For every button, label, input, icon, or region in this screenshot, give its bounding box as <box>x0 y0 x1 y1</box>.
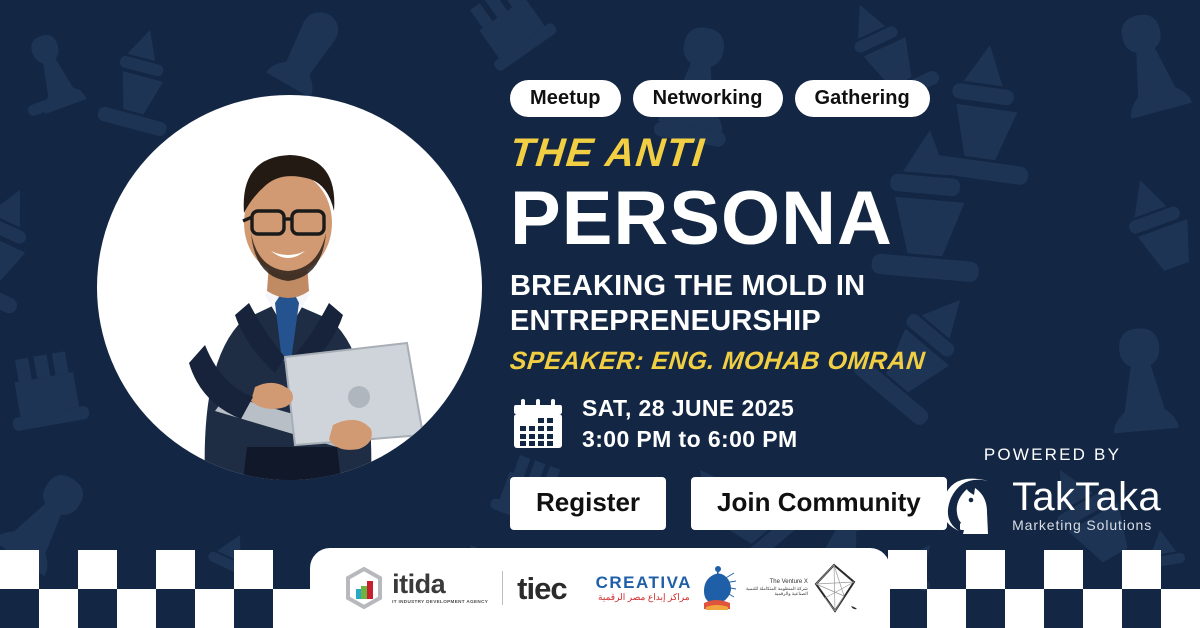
taktaka-logo: TakTaka Marketing Solutions <box>925 474 1180 536</box>
itida-tagline: IT INDUSTRY DEVELOPMENT AGENCY <box>392 600 488 605</box>
register-button[interactable]: Register <box>510 477 666 530</box>
badge-row: Meetup Networking Gathering <box>510 80 1030 117</box>
subtitle-line-2: ENTREPRENEURSHIP <box>510 304 1030 339</box>
venture-arabic-line2: الصناعية والرقمية <box>746 591 808 596</box>
taktaka-brand-name: TakTaka <box>1012 478 1161 516</box>
person-with-laptop-photo <box>97 95 482 480</box>
sponsor-tiec[interactable]: tiec <box>517 573 566 604</box>
badge-meetup[interactable]: Meetup <box>510 80 621 117</box>
venture-name: The Venture X <box>746 579 808 586</box>
powered-by-label: POWERED BY <box>925 445 1180 465</box>
creativa-text: CREATIVA مراكز إبداع مصر الرقمية <box>596 574 692 602</box>
calendar-icon <box>510 396 566 452</box>
tiec-name: tiec <box>517 573 566 604</box>
itida-text: itida IT INDUSTRY DEVELOPMENT AGENCY <box>392 571 488 605</box>
sponsor-creativa[interactable]: CREATIVA مراكز إبداع مصر الرقمية <box>596 565 736 611</box>
checkerboard-right <box>888 550 1200 628</box>
event-poster: Meetup Networking Gathering THE ANTI PER… <box>0 0 1200 628</box>
sponsor-itida[interactable]: itida IT INDUSTRY DEVELOPMENT AGENCY <box>343 567 488 609</box>
sponsor-venture-x[interactable]: The Venture X شركة المنظومة المتكاملة لل… <box>746 562 857 614</box>
join-community-button[interactable]: Join Community <box>691 477 947 530</box>
event-date: SAT, 28 JUNE 2025 <box>582 393 798 424</box>
subtitle-line-1: BREAKING THE MOLD IN <box>510 269 1030 304</box>
venture-text: The Venture X شركة المنظومة المتكاملة لل… <box>746 579 808 596</box>
checkerboard-left <box>0 550 312 628</box>
taktaka-tagline: Marketing Solutions <box>1012 517 1161 533</box>
powered-by-block: POWERED BY TakTaka Marketing Solutions <box>925 445 1180 536</box>
creativa-arabic: مراكز إبداع مصر الرقمية <box>596 593 692 602</box>
itida-hexagon-icon <box>343 567 385 609</box>
badge-gathering[interactable]: Gathering <box>795 80 930 117</box>
knight-chess-piece-icon <box>944 474 1006 536</box>
page-title: PERSONA <box>510 181 1030 257</box>
sponsor-bar: itida IT INDUSTRY DEVELOPMENT AGENCY tie… <box>310 548 890 628</box>
creativa-head-icon <box>696 565 736 611</box>
taktaka-text: TakTaka Marketing Solutions <box>1012 478 1161 533</box>
headline-eyebrow: THE ANTI <box>508 133 1032 173</box>
badge-networking[interactable]: Networking <box>633 80 783 117</box>
venture-x-polygon-icon <box>811 562 857 614</box>
speaker-photo-circle <box>97 95 482 480</box>
speaker-name: SPEAKER: ENG. MOHAB OMRAN <box>509 348 1032 376</box>
itida-name: itida <box>392 571 488 598</box>
sponsor-divider <box>502 571 503 605</box>
creativa-name: CREATIVA <box>596 574 692 591</box>
event-time: 3:00 PM to 6:00 PM <box>582 424 798 455</box>
headline-subtitle: BREAKING THE MOLD IN ENTREPRENEURSHIP <box>510 269 1030 340</box>
event-datetime-text: SAT, 28 JUNE 2025 3:00 PM to 6:00 PM <box>582 393 798 455</box>
